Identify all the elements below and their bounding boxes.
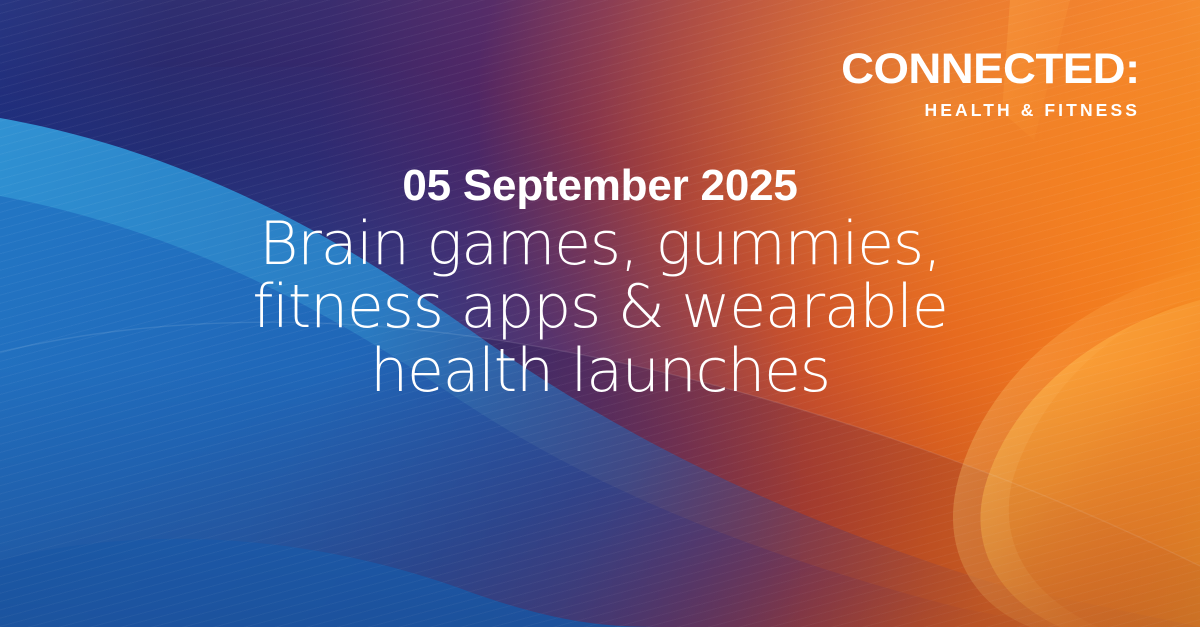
headline-block: 05 September 2025 Brain games, gummies, …	[0, 163, 1200, 404]
brand-tagline: HEALTH & FITNESS	[858, 102, 1140, 120]
headline-line-3: health launches	[60, 340, 1140, 404]
headline-line-1: Brain games, gummies,	[60, 213, 1140, 277]
promo-banner: CONNECTED: HEALTH & FITNESS 05 September…	[0, 0, 1200, 627]
brand-name: CONNECTED:	[841, 48, 1140, 91]
headline-text: Brain games, gummies, fitness apps & wea…	[60, 213, 1140, 404]
headline-line-2: fitness apps & wearable	[60, 276, 1140, 340]
publish-date: 05 September 2025	[60, 163, 1140, 209]
brand-logo: CONNECTED: HEALTH & FITNESS	[858, 48, 1140, 120]
